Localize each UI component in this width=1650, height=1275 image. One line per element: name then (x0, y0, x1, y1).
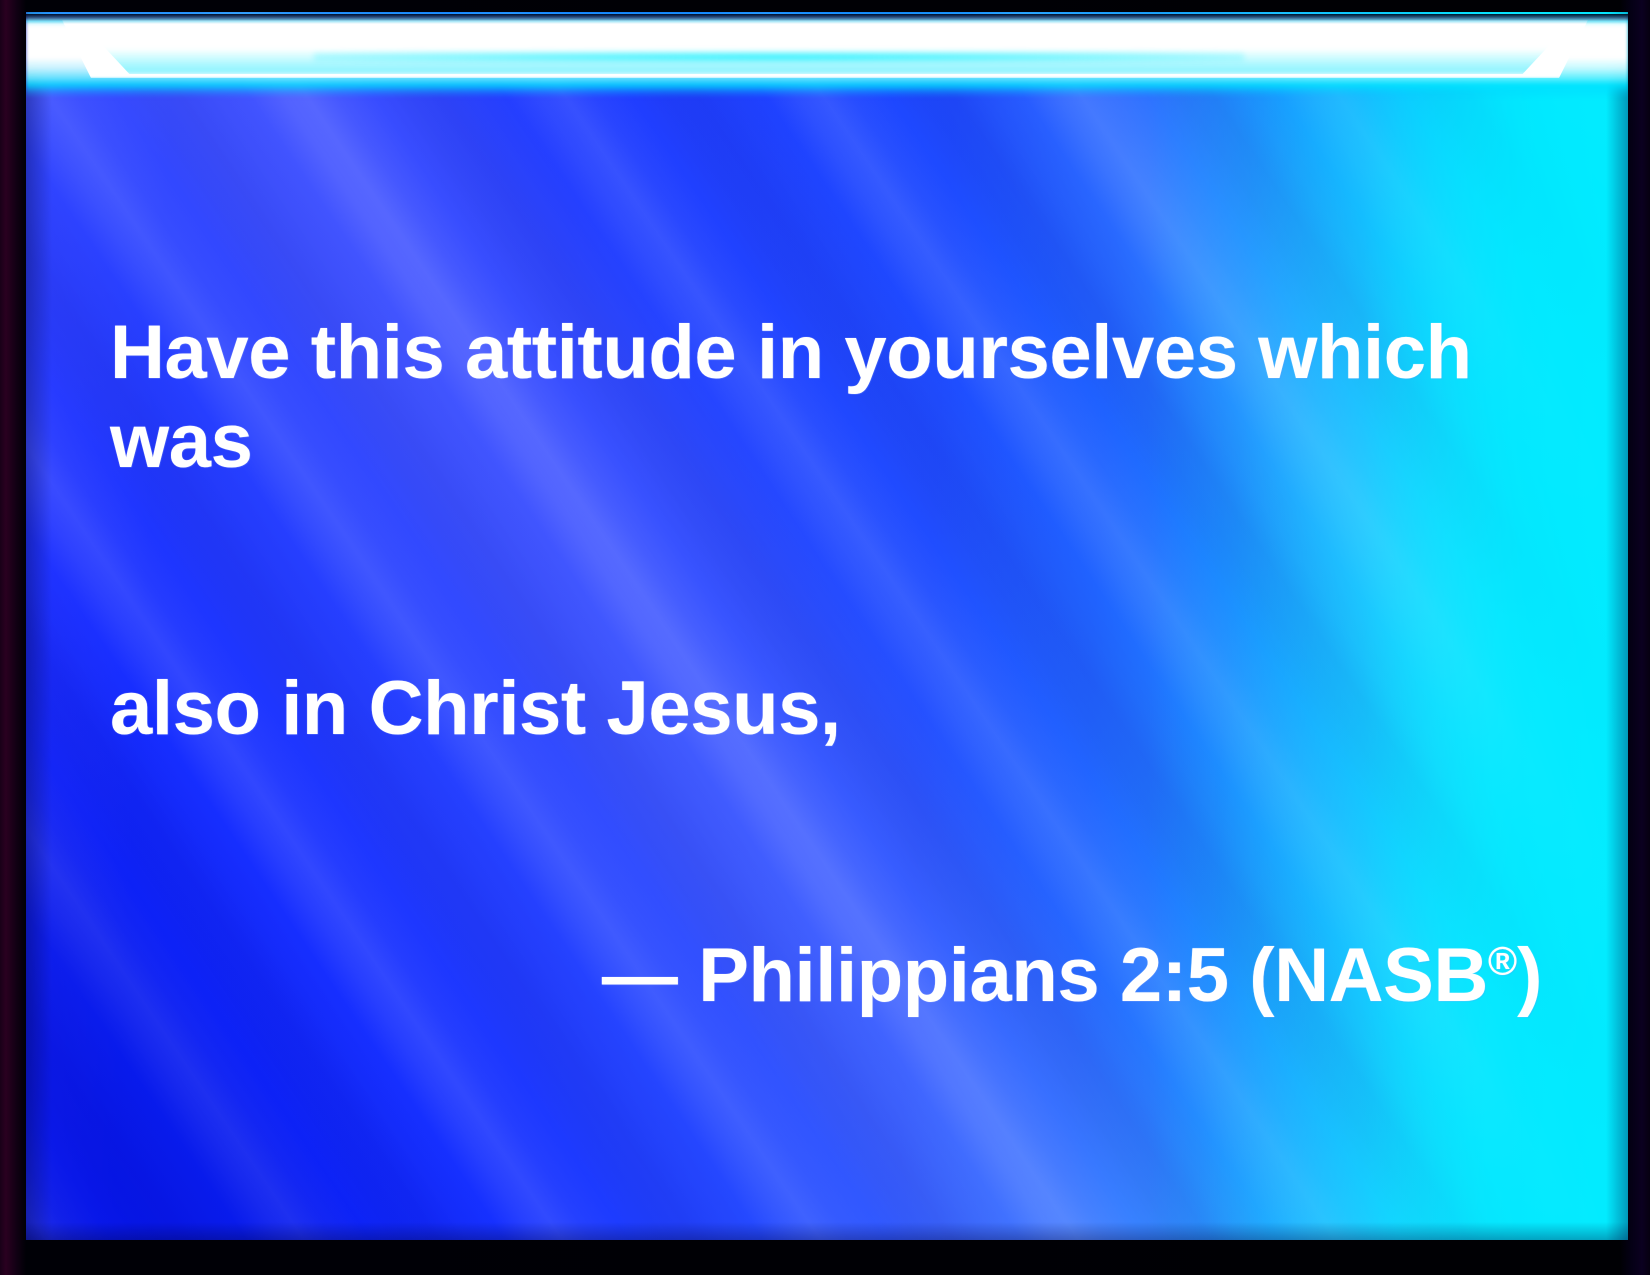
verse-text-block: Have this attitude in yourselves which w… (110, 130, 1544, 1198)
verse-reference-line: — Philippians 2:5 (NASB®) (110, 931, 1544, 1020)
verse-reference-close-paren: ) (1517, 933, 1542, 1018)
verse-line-1: Have this attitude in yourselves which w… (110, 308, 1544, 486)
slide-canvas: Have this attitude in yourselves which w… (26, 12, 1628, 1240)
verse-reference-book: Philippians 2:5 (NASB (698, 933, 1488, 1018)
verse-slide: Have this attitude in yourselves which w… (0, 0, 1650, 1275)
verse-reference-dash: — (602, 933, 698, 1018)
verse-line-2: also in Christ Jesus, (110, 664, 1544, 753)
registered-trademark-icon: ® (1488, 940, 1517, 984)
